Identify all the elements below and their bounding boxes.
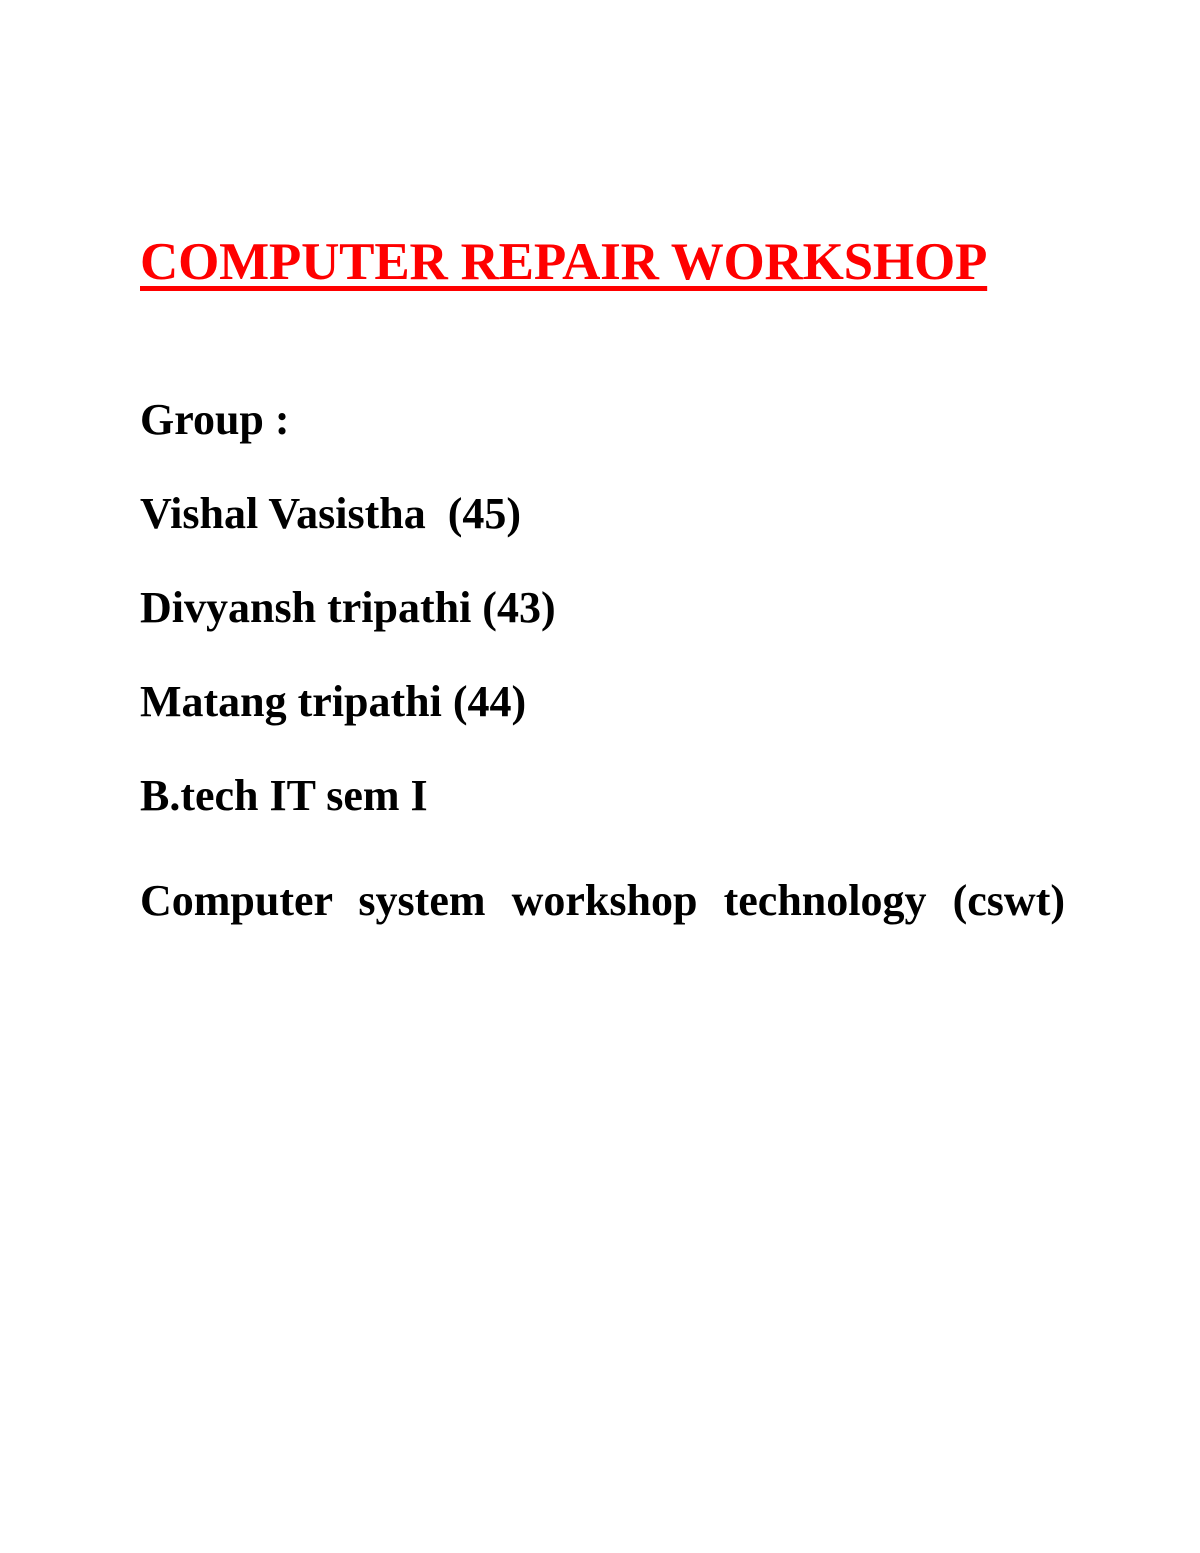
subject-paragraph: Computer system workshop technology (csw… [140,868,1065,1002]
member-line-vishal-vasistha: Vishal Vasistha (45) [140,492,1065,536]
member-line-divyansh-tripathi: Divyansh tripathi (43) [140,586,1065,630]
group-label-line: Group : [140,398,1065,442]
page-title-text: COMPUTER REPAIR WORKSHOP [140,233,987,291]
course-program-line: B.tech IT sem I [140,774,1065,818]
document-body: Group : Vishal Vasistha (45) Divyansh tr… [140,398,1065,1002]
page-title: COMPUTER REPAIR WORKSHOP [140,234,1060,291]
member-line-matang-tripathi: Matang tripathi (44) [140,680,1065,724]
document-page: COMPUTER REPAIR WORKSHOP Group : Vishal … [0,0,1200,1553]
